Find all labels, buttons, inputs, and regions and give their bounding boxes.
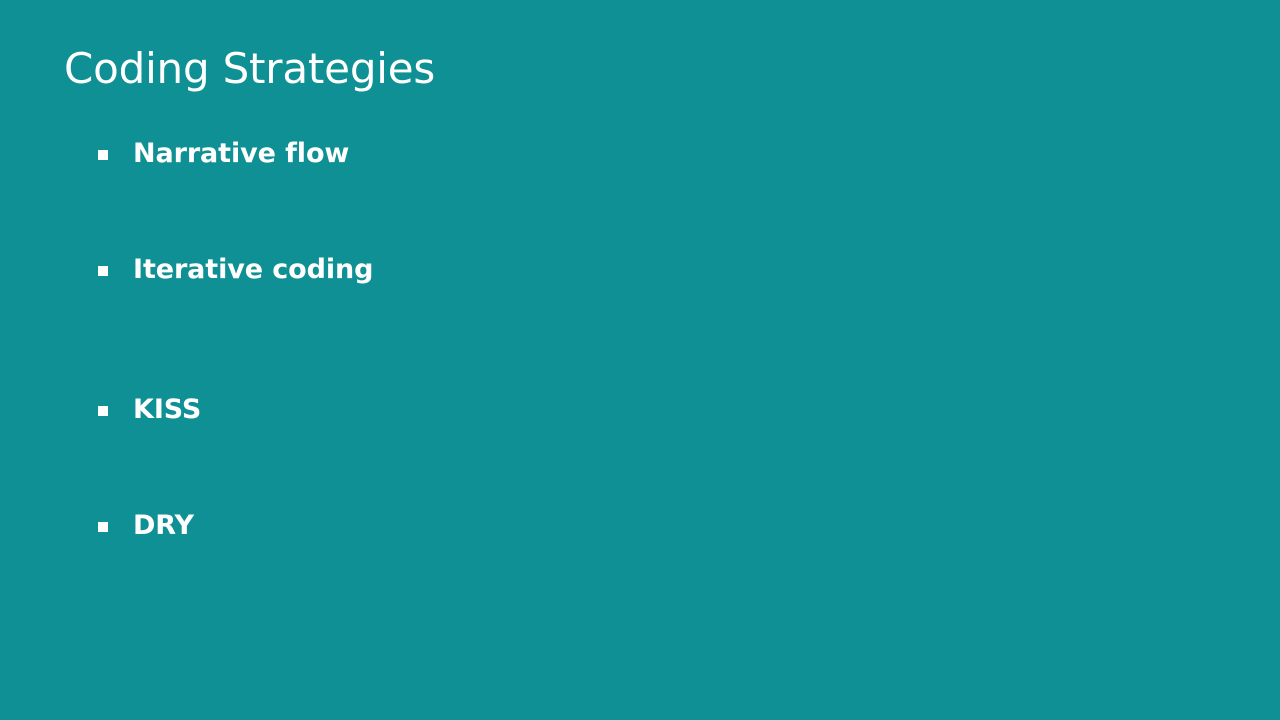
list-item[interactable]: DRY: [98, 512, 1198, 540]
square-bullet-icon: [98, 406, 108, 416]
square-bullet-icon: [98, 266, 108, 276]
page-title: Coding Strategies: [64, 44, 435, 94]
list-item[interactable]: KISS: [98, 396, 1198, 424]
square-bullet-icon: [98, 150, 108, 160]
list-item-label: DRY: [133, 512, 194, 540]
list-item[interactable]: Narrative flow: [98, 140, 1198, 168]
list-item-label: Iterative coding: [133, 256, 373, 284]
list-item[interactable]: Iterative coding: [98, 256, 1198, 284]
square-bullet-icon: [98, 522, 108, 532]
list-item-label: Narrative flow: [133, 140, 349, 168]
presentation-slide: Coding Strategies Narrative flow Iterati…: [0, 0, 1280, 720]
bullet-list: Narrative flow Iterative coding KISS DRY: [98, 140, 1198, 540]
list-item-label: KISS: [133, 396, 201, 424]
